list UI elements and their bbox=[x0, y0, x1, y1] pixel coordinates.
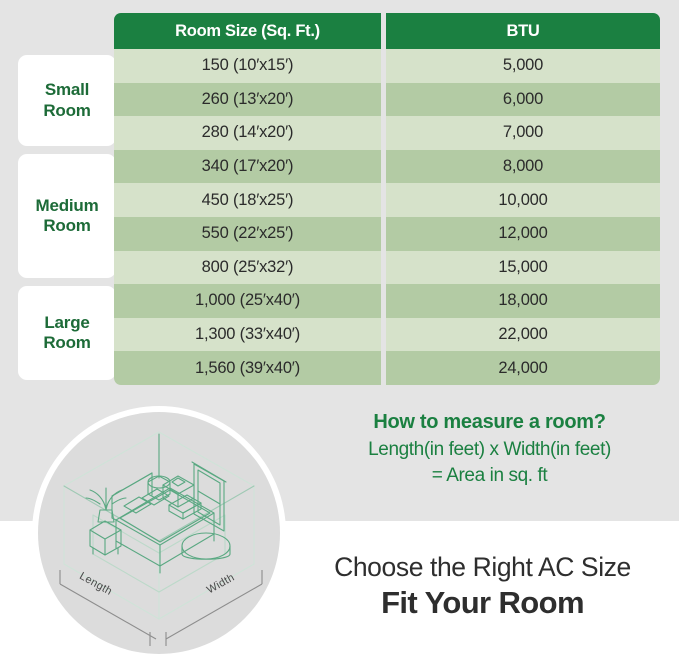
btu-sizing-table: Room Size (Sq. Ft.) BTU 150 (10′x15′)5,0… bbox=[114, 13, 660, 380]
cell-btu: 7,000 bbox=[386, 116, 660, 150]
cell-room-size: 150 (10′x15′) bbox=[114, 49, 381, 83]
category-card-medium-room: Medium Room bbox=[18, 154, 116, 278]
cell-room-size: 450 (18′x25′) bbox=[114, 183, 381, 217]
table-row: 1,000 (25′x40′)18,000 bbox=[114, 284, 660, 318]
cell-room-size: 260 (13′x20′) bbox=[114, 83, 381, 117]
table-row: 1,560 (39′x40′)24,000 bbox=[114, 351, 660, 385]
cell-room-size: 1,000 (25′x40′) bbox=[114, 284, 381, 318]
headline-line-bold: Fit Your Room bbox=[300, 584, 665, 621]
column-header-btu: BTU bbox=[386, 13, 660, 49]
cell-room-size: 1,300 (33′x40′) bbox=[114, 318, 381, 352]
category-label-medium-line1: Medium bbox=[35, 196, 98, 215]
cell-btu: 18,000 bbox=[386, 284, 660, 318]
cell-room-size: 550 (22′x25′) bbox=[114, 217, 381, 251]
headline-block: Choose the Right AC Size Fit Your Room bbox=[300, 552, 665, 621]
cell-room-size: 340 (17′x20′) bbox=[114, 150, 381, 184]
cell-btu: 15,000 bbox=[386, 251, 660, 285]
cell-btu: 22,000 bbox=[386, 318, 660, 352]
category-label-medium-line2: Room bbox=[43, 216, 90, 235]
table-row: 1,300 (33′x40′)22,000 bbox=[114, 318, 660, 352]
category-label-large: Large Room bbox=[43, 313, 90, 353]
category-label-small-line1: Small bbox=[45, 80, 89, 99]
isometric-bedroom-illustration bbox=[38, 412, 280, 654]
category-label-small-line2: Room bbox=[43, 101, 90, 120]
cell-btu: 5,000 bbox=[386, 49, 660, 83]
cell-btu: 6,000 bbox=[386, 83, 660, 117]
cell-btu: 10,000 bbox=[386, 183, 660, 217]
column-header-room-size: Room Size (Sq. Ft.) bbox=[114, 13, 381, 49]
cell-btu: 8,000 bbox=[386, 150, 660, 184]
table-row: 800 (25′x32′)15,000 bbox=[114, 251, 660, 285]
headline-line-light: Choose the Right AC Size bbox=[300, 552, 665, 583]
table-row: 260 (13′x20′)6,000 bbox=[114, 83, 660, 117]
table-row: 150 (10′x15′)5,000 bbox=[114, 49, 660, 83]
cell-room-size: 280 (14′x20′) bbox=[114, 116, 381, 150]
category-label-small: Small Room bbox=[43, 80, 90, 120]
category-label-large-line2: Room bbox=[43, 333, 90, 352]
table-row: 550 (22′x25′)12,000 bbox=[114, 217, 660, 251]
table-row: 450 (18′x25′)10,000 bbox=[114, 183, 660, 217]
table-row: 280 (14′x20′)7,000 bbox=[114, 116, 660, 150]
cell-btu: 12,000 bbox=[386, 217, 660, 251]
table-body: 150 (10′x15′)5,000260 (13′x20′)6,000280 … bbox=[114, 49, 660, 385]
category-label-large-line1: Large bbox=[44, 313, 89, 332]
category-card-small-room: Small Room bbox=[18, 55, 116, 146]
category-card-large-room: Large Room bbox=[18, 286, 116, 380]
measure-formula-line-1: Length(in feet) x Width(in feet) bbox=[300, 437, 679, 463]
cell-room-size: 800 (25′x32′) bbox=[114, 251, 381, 285]
cell-room-size: 1,560 (39′x40′) bbox=[114, 351, 381, 385]
measure-formula-line-2: = Area in sq. ft bbox=[300, 463, 679, 489]
table-row: 340 (17′x20′)8,000 bbox=[114, 150, 660, 184]
how-to-measure-block: How to measure a room? Length(in feet) x… bbox=[300, 410, 679, 488]
cell-btu: 24,000 bbox=[386, 351, 660, 385]
how-to-measure-title: How to measure a room? bbox=[300, 410, 679, 435]
category-label-medium: Medium Room bbox=[35, 196, 98, 236]
table-header-row: Room Size (Sq. Ft.) BTU bbox=[114, 13, 660, 49]
